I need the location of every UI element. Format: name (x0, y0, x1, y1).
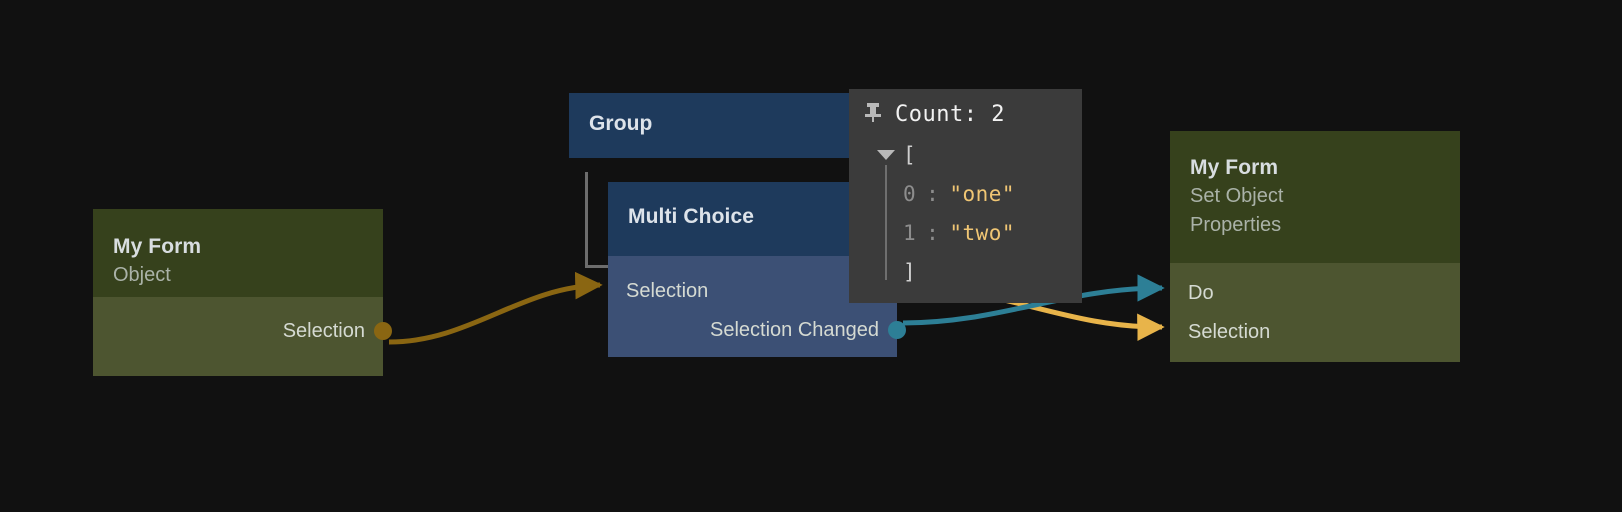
node-title: My Form (1190, 154, 1440, 182)
inspector-title: Count: 2 (895, 102, 1005, 127)
node-body[interactable]: Do Selection (1170, 263, 1460, 362)
node-subtitle: Object (113, 261, 363, 290)
event-output-port-dot-icon[interactable] (888, 321, 906, 339)
node-subtitle-line-1: Set Object (1190, 182, 1440, 211)
port-label: Selection (626, 280, 708, 302)
port-label: Selection Changed (710, 319, 879, 341)
port-label: Selection (283, 320, 365, 342)
port-row-selection-in[interactable]: Selection (1188, 322, 1270, 342)
key-value-separator: : (916, 182, 949, 206)
port-row-selection-out[interactable]: Selection (283, 321, 365, 341)
node-my-form-set-object-properties[interactable]: My Form Set Object Properties Do Selecti… (1170, 131, 1460, 362)
port-row-selection-in[interactable]: Selection (626, 281, 708, 301)
node-title: Multi Choice (628, 203, 877, 231)
tree-row-item[interactable]: 1 : "two" (869, 213, 1064, 252)
node-header[interactable]: My Form Set Object Properties (1170, 131, 1460, 263)
pinned-value-inspector[interactable]: Count: 2 [ 0 : "one" 1 : "two" (849, 89, 1082, 303)
array-close-bracket: ] (903, 260, 916, 284)
inspector-value-tree: [ 0 : "one" 1 : "two" ] (863, 135, 1064, 291)
group-title: Group (589, 110, 839, 138)
tree-row-close-bracket: ] (869, 252, 1064, 291)
tree-row-open-bracket[interactable]: [ (869, 135, 1064, 174)
tree-row-item[interactable]: 0 : "one" (869, 174, 1064, 213)
output-port-dot-icon[interactable] (374, 322, 392, 340)
port-label: Selection (1188, 321, 1270, 343)
port-label: Do (1188, 282, 1214, 304)
group-header[interactable]: Group (569, 93, 859, 158)
node-body[interactable]: Selection (93, 297, 383, 376)
array-index: 0 (903, 182, 916, 206)
array-value: "two" (949, 221, 1015, 245)
wire-selection-to-multichoice (389, 285, 600, 342)
node-subtitle-line-2: Properties (1190, 211, 1440, 240)
port-row-do-in[interactable]: Do (1188, 283, 1214, 303)
inspector-header: Count: 2 (863, 99, 1064, 135)
key-value-separator: : (916, 221, 949, 245)
node-title: My Form (113, 233, 363, 261)
tree-guide-line (885, 165, 887, 280)
caret-down-icon[interactable] (869, 150, 903, 160)
array-index: 1 (903, 221, 916, 245)
node-group[interactable]: Group (569, 93, 859, 158)
port-row-selection-changed-out[interactable]: Selection Changed (710, 320, 879, 340)
array-value: "one" (949, 182, 1015, 206)
node-graph-canvas[interactable]: My Form Object Selection Group Multi Cho… (0, 0, 1622, 512)
pin-icon[interactable] (863, 101, 883, 127)
node-my-form-object[interactable]: My Form Object Selection (93, 209, 383, 376)
node-header[interactable]: My Form Object (93, 209, 383, 297)
array-open-bracket: [ (903, 143, 916, 167)
